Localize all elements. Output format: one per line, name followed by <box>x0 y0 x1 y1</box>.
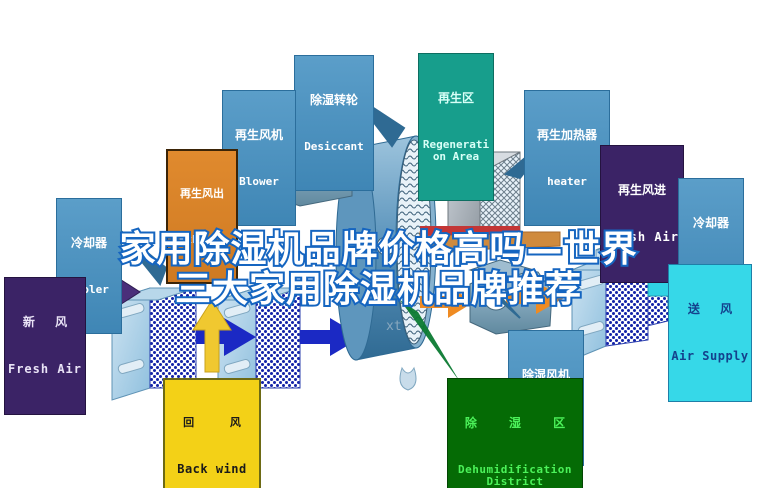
label-regen-area-cn: 再生区 <box>421 92 491 105</box>
label-regen-heater-cn: 再生加热器 <box>527 129 607 142</box>
label-regen-area-en: Regenerati on Area <box>421 139 491 163</box>
label-desiccant-wheel[interactable]: 除湿转轮 Desiccant <box>294 55 374 191</box>
label-fresh-air-cn: 新 风 <box>7 316 83 329</box>
label-dehum-district-en: Dehumidification District <box>450 464 580 488</box>
label-fresh-air-en: Fresh Air <box>7 363 83 376</box>
svg-text:xt: xt <box>386 319 402 334</box>
label-desiccant-wheel-en: Desiccant <box>297 141 371 153</box>
label-back-wind-cn: 回 风 <box>167 417 257 429</box>
overlay-title-text: 家用除湿机品牌价格高吗—世界三大家用除湿机品牌推荐 <box>119 230 639 310</box>
label-regen-area[interactable]: 再生区 Regenerati on Area <box>418 53 494 201</box>
label-dehumidification-district[interactable]: 除 湿 区 Dehumidification District <box>447 378 583 488</box>
label-regen-blower-cn: 再生风机 <box>225 129 293 142</box>
label-back-wind[interactable]: 回 风 Back wind <box>163 378 261 488</box>
label-dehum-district-cn: 除 湿 区 <box>450 417 580 430</box>
overlay-title: 家用除湿机品牌价格高吗—世界三大家用除湿机品牌推荐 <box>0 190 757 310</box>
condensate-drip <box>400 368 416 390</box>
label-regen-heater-en: heater <box>527 176 607 188</box>
label-air-supply-en: Air Supply <box>671 350 749 363</box>
dehumidifier-flow-diagram: xt 除湿转轮 Desiccant 再生风机 Blower 再生区 Regene… <box>0 0 757 488</box>
label-back-wind-en: Back wind <box>167 463 257 476</box>
label-desiccant-wheel-cn: 除湿转轮 <box>297 94 371 107</box>
